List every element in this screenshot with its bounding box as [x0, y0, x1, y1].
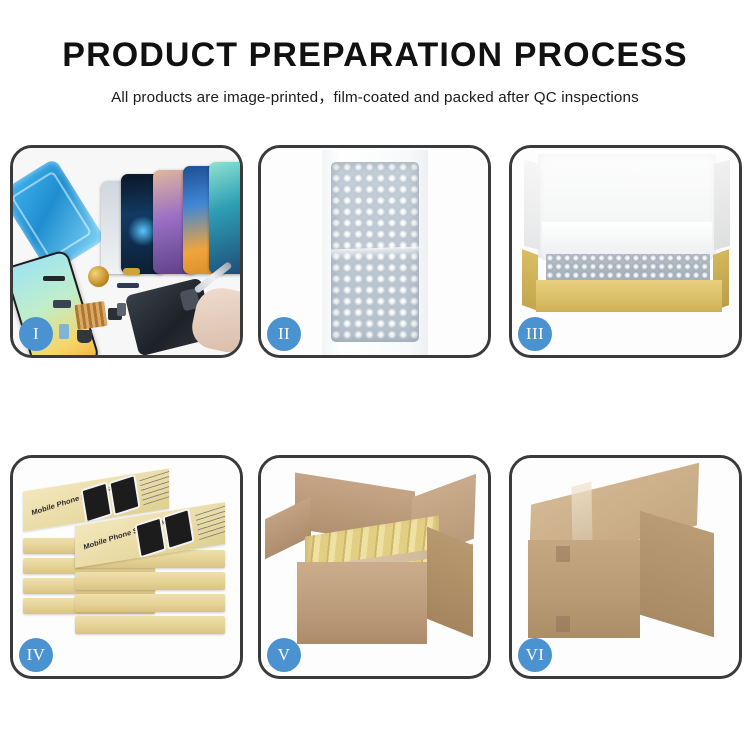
- sealed-carton-side: [640, 511, 714, 638]
- carton-front-panel: [297, 562, 427, 644]
- box-art-screen-icon: [80, 481, 112, 523]
- step-badge-5: V: [267, 638, 301, 672]
- process-step-4[interactable]: Mobile Phone Spare Parts Mobile Phone Sp…: [10, 455, 243, 679]
- step-badge-4: IV: [19, 638, 53, 672]
- retail-box-stack-icon: Mobile Phone Spare Parts Mobile Phone Sp…: [19, 474, 237, 664]
- sim-tray-icon: [59, 324, 69, 339]
- sealed-carton-front: [528, 540, 640, 638]
- process-step-5[interactable]: V: [258, 455, 491, 679]
- process-step-6[interactable]: VI: [509, 455, 742, 679]
- logic-board-chip-icon: [74, 301, 107, 330]
- process-step-2[interactable]: II: [258, 145, 491, 358]
- step-badge-6: VI: [518, 638, 552, 672]
- step-badge-1: I: [19, 317, 53, 351]
- battery-connector-icon: [117, 303, 126, 316]
- process-step-1[interactable]: I: [10, 145, 243, 358]
- header: PRODUCT PREPARATION PROCESS All products…: [0, 0, 750, 107]
- connector-part-icon: [53, 300, 71, 308]
- inner-box-front-icon: [536, 280, 722, 312]
- retail-box-icon: [75, 594, 225, 612]
- process-step-3[interactable]: III: [509, 145, 742, 358]
- process-step-grid: I II III: [10, 145, 742, 679]
- box-art-screen-icon: [162, 508, 194, 550]
- flex-cable-blue-icon: [117, 283, 139, 288]
- carton-seam: [556, 546, 570, 562]
- page-subtitle: All products are image-printed，film-coat…: [0, 74, 750, 107]
- retail-box-icon: [75, 572, 225, 590]
- box-art-screen-icon: [134, 516, 166, 558]
- phone-screen-fan: [99, 156, 243, 274]
- earpiece-part-icon: [43, 276, 65, 281]
- box-spec-lines: [195, 502, 225, 540]
- speaker-coil-icon: [88, 266, 109, 287]
- carton-seam: [556, 616, 570, 632]
- box-art-screen-icon: [108, 474, 140, 516]
- step-badge-2: II: [267, 317, 301, 351]
- step-badge-3: III: [518, 317, 552, 351]
- carton-side-panel: [427, 527, 473, 638]
- box-spec-lines: [139, 468, 169, 505]
- taptic-engine-icon: [77, 330, 92, 343]
- page-title: PRODUCT PREPARATION PROCESS: [0, 0, 750, 74]
- phone-screen-teal-icon: [209, 162, 243, 274]
- retail-box-icon: [75, 616, 225, 634]
- flex-cable-gold-icon: [123, 268, 140, 275]
